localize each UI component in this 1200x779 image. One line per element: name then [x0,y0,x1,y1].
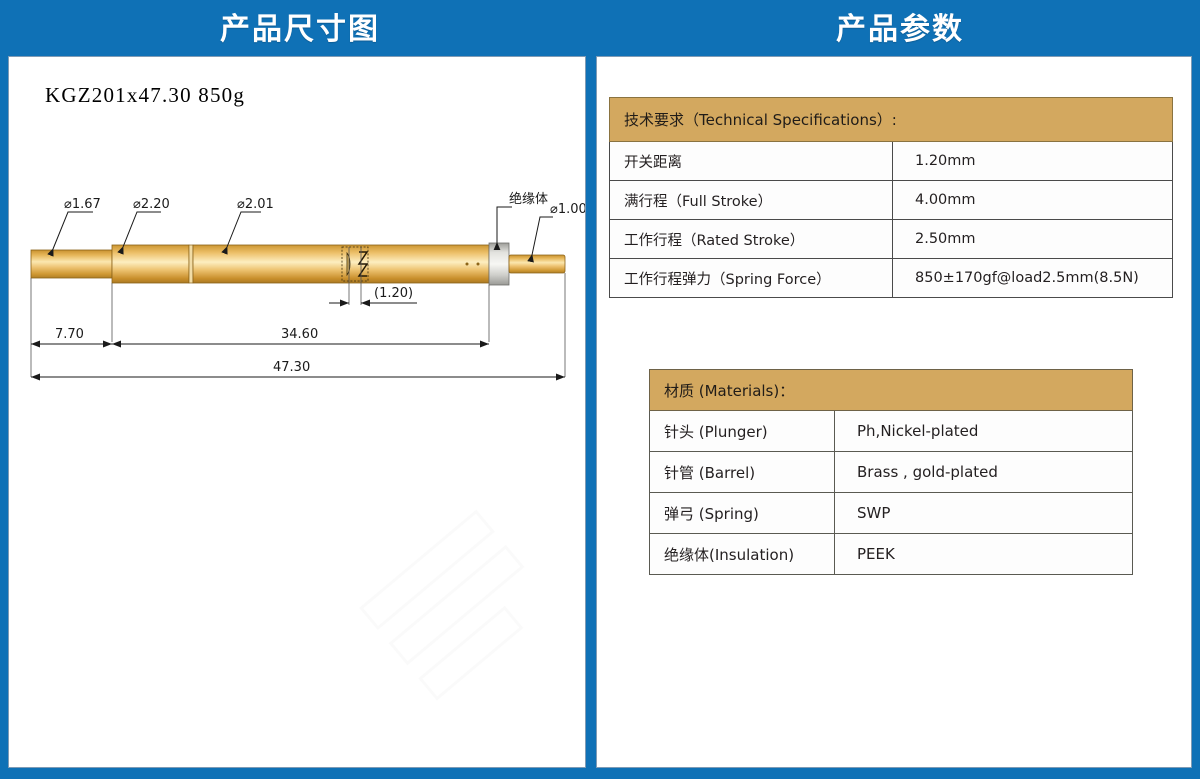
spec-value-spring-force: 850±170gf@load2.5mm(8.5N) [893,259,1173,298]
spec-value-full-stroke: 4.00mm [893,181,1173,220]
material-label-spring: 弹弓 (Spring) [650,493,835,534]
product-parameters-panel: 技术要求（Technical Specifications）: 开关距离 1.2… [596,56,1192,768]
spec-label-spring-force: 工作行程弹力（Spring Force） [610,259,893,298]
table-row: 开关距离 1.20mm [610,142,1173,181]
callout-text-d201: ⌀2.01 [237,197,274,212]
page-title-dimension-drawing: 产品尺寸图 [220,4,380,48]
material-value-barrel: Brass , gold-plated [835,452,1133,493]
material-value-spring: SWP [835,493,1133,534]
probe-pin-drawing: ⌀1.67 ⌀2.20 ⌀2.01 绝缘体 ⌀1.00 (1.20) 7.70 [9,57,586,768]
table-row: 工作行程（Rated Stroke） 2.50mm [610,220,1173,259]
spec-value-switch-distance: 1.20mm [893,142,1173,181]
material-label-barrel: 针管 (Barrel) [650,452,835,493]
material-label-insulation: 绝缘体(Insulation) [650,534,835,575]
technical-specifications-table: 技术要求（Technical Specifications）: 开关距离 1.2… [609,97,1173,298]
dimension-drawing-panel: KGZ201x47.30 850g [8,56,586,768]
table-row: 工作行程弹力（Spring Force） 850±170gf@load2.5mm… [610,259,1173,298]
page-header-bar: 产品尺寸图 产品参数 [0,0,1200,52]
table-row: 针头 (Plunger) Ph,Nickel-plated [650,411,1133,452]
callout-text-d220: ⌀2.20 [133,197,170,212]
dimension-text-770: 7.70 [55,327,84,342]
spec-value-rated-stroke: 2.50mm [893,220,1173,259]
dimension-text-120: (1.20) [374,286,413,301]
material-value-insulation: PEEK [835,534,1133,575]
material-label-plunger: 针头 (Plunger) [650,411,835,452]
header-cell-left: 产品尺寸图 [0,0,600,52]
table-row: 满行程（Full Stroke） 4.00mm [610,181,1173,220]
spec-label-full-stroke: 满行程（Full Stroke） [610,181,893,220]
table-row: 针管 (Barrel) Brass , gold-plated [650,452,1133,493]
material-value-plunger: Ph,Nickel-plated [835,411,1133,452]
callout-text-d167: ⌀1.67 [64,197,101,212]
technical-specifications-header: 技术要求（Technical Specifications）: [610,98,1173,142]
callout-text-insulation: 绝缘体 [509,191,548,207]
dimension-text-3460: 34.60 [281,327,318,342]
spec-label-switch-distance: 开关距离 [610,142,893,181]
table-row: 弹弓 (Spring) SWP [650,493,1133,534]
materials-header: 材质 (Materials)： [650,370,1133,411]
table-header-row: 材质 (Materials)： [650,370,1133,411]
dimension-text-4730: 47.30 [273,360,310,375]
table-row: 绝缘体(Insulation) PEEK [650,534,1133,575]
page-title-product-parameters: 产品参数 [836,4,964,48]
header-cell-right: 产品参数 [600,0,1200,52]
spec-label-rated-stroke: 工作行程（Rated Stroke） [610,220,893,259]
materials-table: 材质 (Materials)： 针头 (Plunger) Ph,Nickel-p… [649,369,1133,575]
table-header-row: 技术要求（Technical Specifications）: [610,98,1173,142]
callout-text-d100: ⌀1.00 [550,202,586,217]
